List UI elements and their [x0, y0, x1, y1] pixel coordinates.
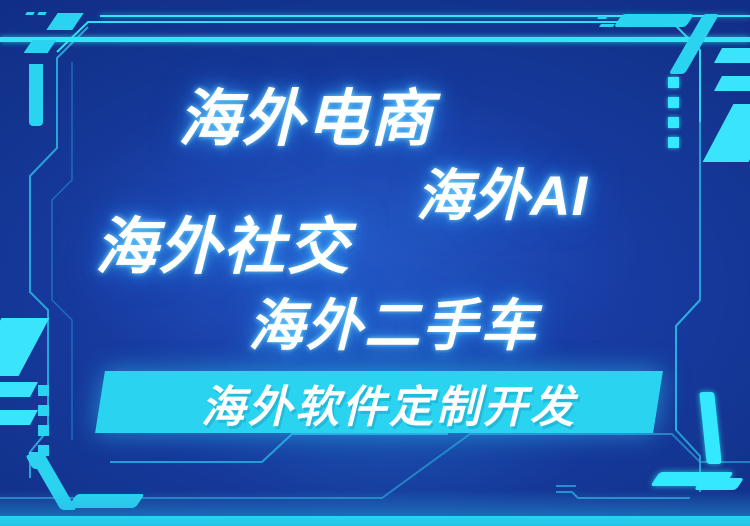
dot-indicator [668, 117, 679, 128]
top-rule-2 [0, 37, 750, 42]
headline-ecommerce: 海外电商 [178, 68, 434, 158]
ribbon-label: 海外软件定制开发 [119, 378, 659, 428]
dot-indicator [668, 77, 679, 88]
corner-top-left-tick-b [37, 12, 47, 15]
corner-top-right-slab [614, 14, 695, 27]
headline-ai: 海外AI [416, 151, 588, 232]
dot-indicator [668, 137, 679, 148]
chevron-group-left [0, 318, 32, 448]
promo-banner: 海外电商 海外AI 海外社交 海外二手车 海外软件定制开发 [0, 0, 750, 526]
chevron-group-right [718, 48, 750, 178]
dot-indicator [38, 405, 49, 416]
dot-stack-left [38, 385, 49, 456]
dot-indicator [668, 97, 679, 108]
corner-top-left-tick-a [25, 12, 35, 15]
headline-social: 海外社交 [95, 196, 351, 286]
headline-used-car: 海外二手车 [248, 281, 538, 362]
dot-indicator [38, 425, 49, 436]
corner-top-right-tick-b [599, 24, 615, 27]
dot-stack-right [668, 77, 679, 148]
dot-indicator [38, 385, 49, 396]
corner-top-left-bar [29, 64, 43, 126]
corner-bottom-right-accent [694, 478, 744, 490]
bottom-fade [0, 490, 750, 516]
bottom-accent-strip [0, 516, 750, 526]
